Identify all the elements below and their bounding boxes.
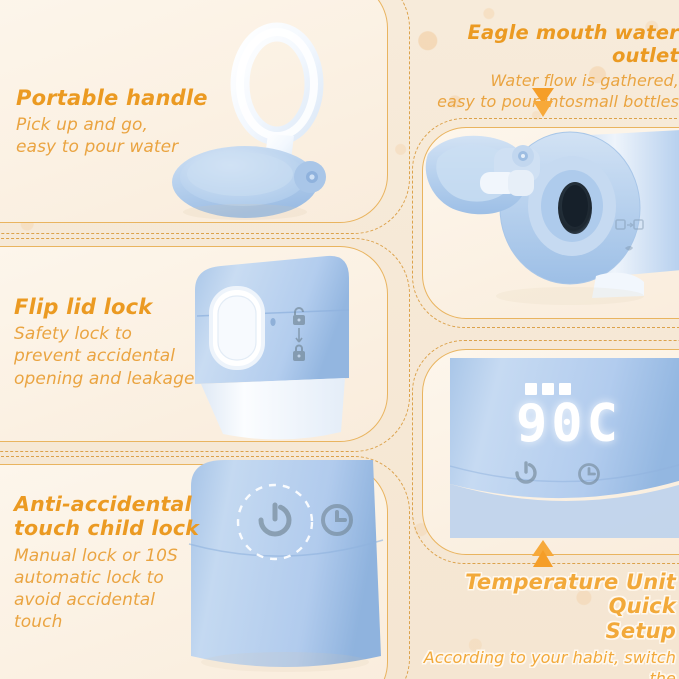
portable-handle-heading: Portable handle [16, 86, 246, 110]
child-lock-body-line-3: avoid accidental [14, 589, 214, 611]
child-lock-text-block: Anti-accidental touch child lock Manual … [14, 493, 214, 633]
led-power-icon[interactable] [512, 459, 540, 491]
temperature-unit-heading-line-2: Setup [398, 619, 676, 643]
portable-handle-body-line-2: easy to pour water [16, 136, 246, 158]
flip-lid-lock-text-block: Flip lid lock Safety lock to prevent acc… [14, 295, 224, 390]
child-lock-body-line-4: touch [14, 611, 214, 633]
child-lock-body-line-2: automatic lock to [14, 567, 214, 589]
temperature-unit-text-block: Temperature Unit Quick Setup According t… [398, 570, 676, 679]
child-lock-body-line-1: Manual lock or 10S [14, 545, 214, 567]
flip-lid-lock-body-line-1: Safety lock to [14, 323, 224, 345]
child-lock-heading-line-2: touch child lock [14, 517, 214, 541]
temperature-unit-heading-line-1: Temperature Unit Quick [398, 570, 676, 619]
down-arrow-icon [527, 84, 559, 128]
infographic-canvas: Portable handle Pick up and go, easy to … [0, 0, 679, 679]
child-lock-heading-line-1: Anti-accidental [14, 493, 214, 517]
temperature-unit-body-line-1: According to your habit, switch the [398, 648, 676, 679]
led-timer-icon[interactable] [575, 459, 603, 491]
portable-handle-text-block: Portable handle Pick up and go, easy to … [16, 86, 246, 159]
flip-lid-lock-body-line-2: prevent accidental [14, 345, 224, 367]
temperature-readout: 90C [516, 398, 636, 450]
flip-lid-lock-body-line-3: opening and leakage [14, 368, 224, 390]
panel-eagle-mouth [422, 127, 679, 319]
eagle-mouth-heading: Eagle mouth water outlet [404, 22, 679, 67]
flip-lid-lock-heading: Flip lid lock [14, 295, 224, 319]
portable-handle-body-line-1: Pick up and go, [16, 114, 246, 136]
